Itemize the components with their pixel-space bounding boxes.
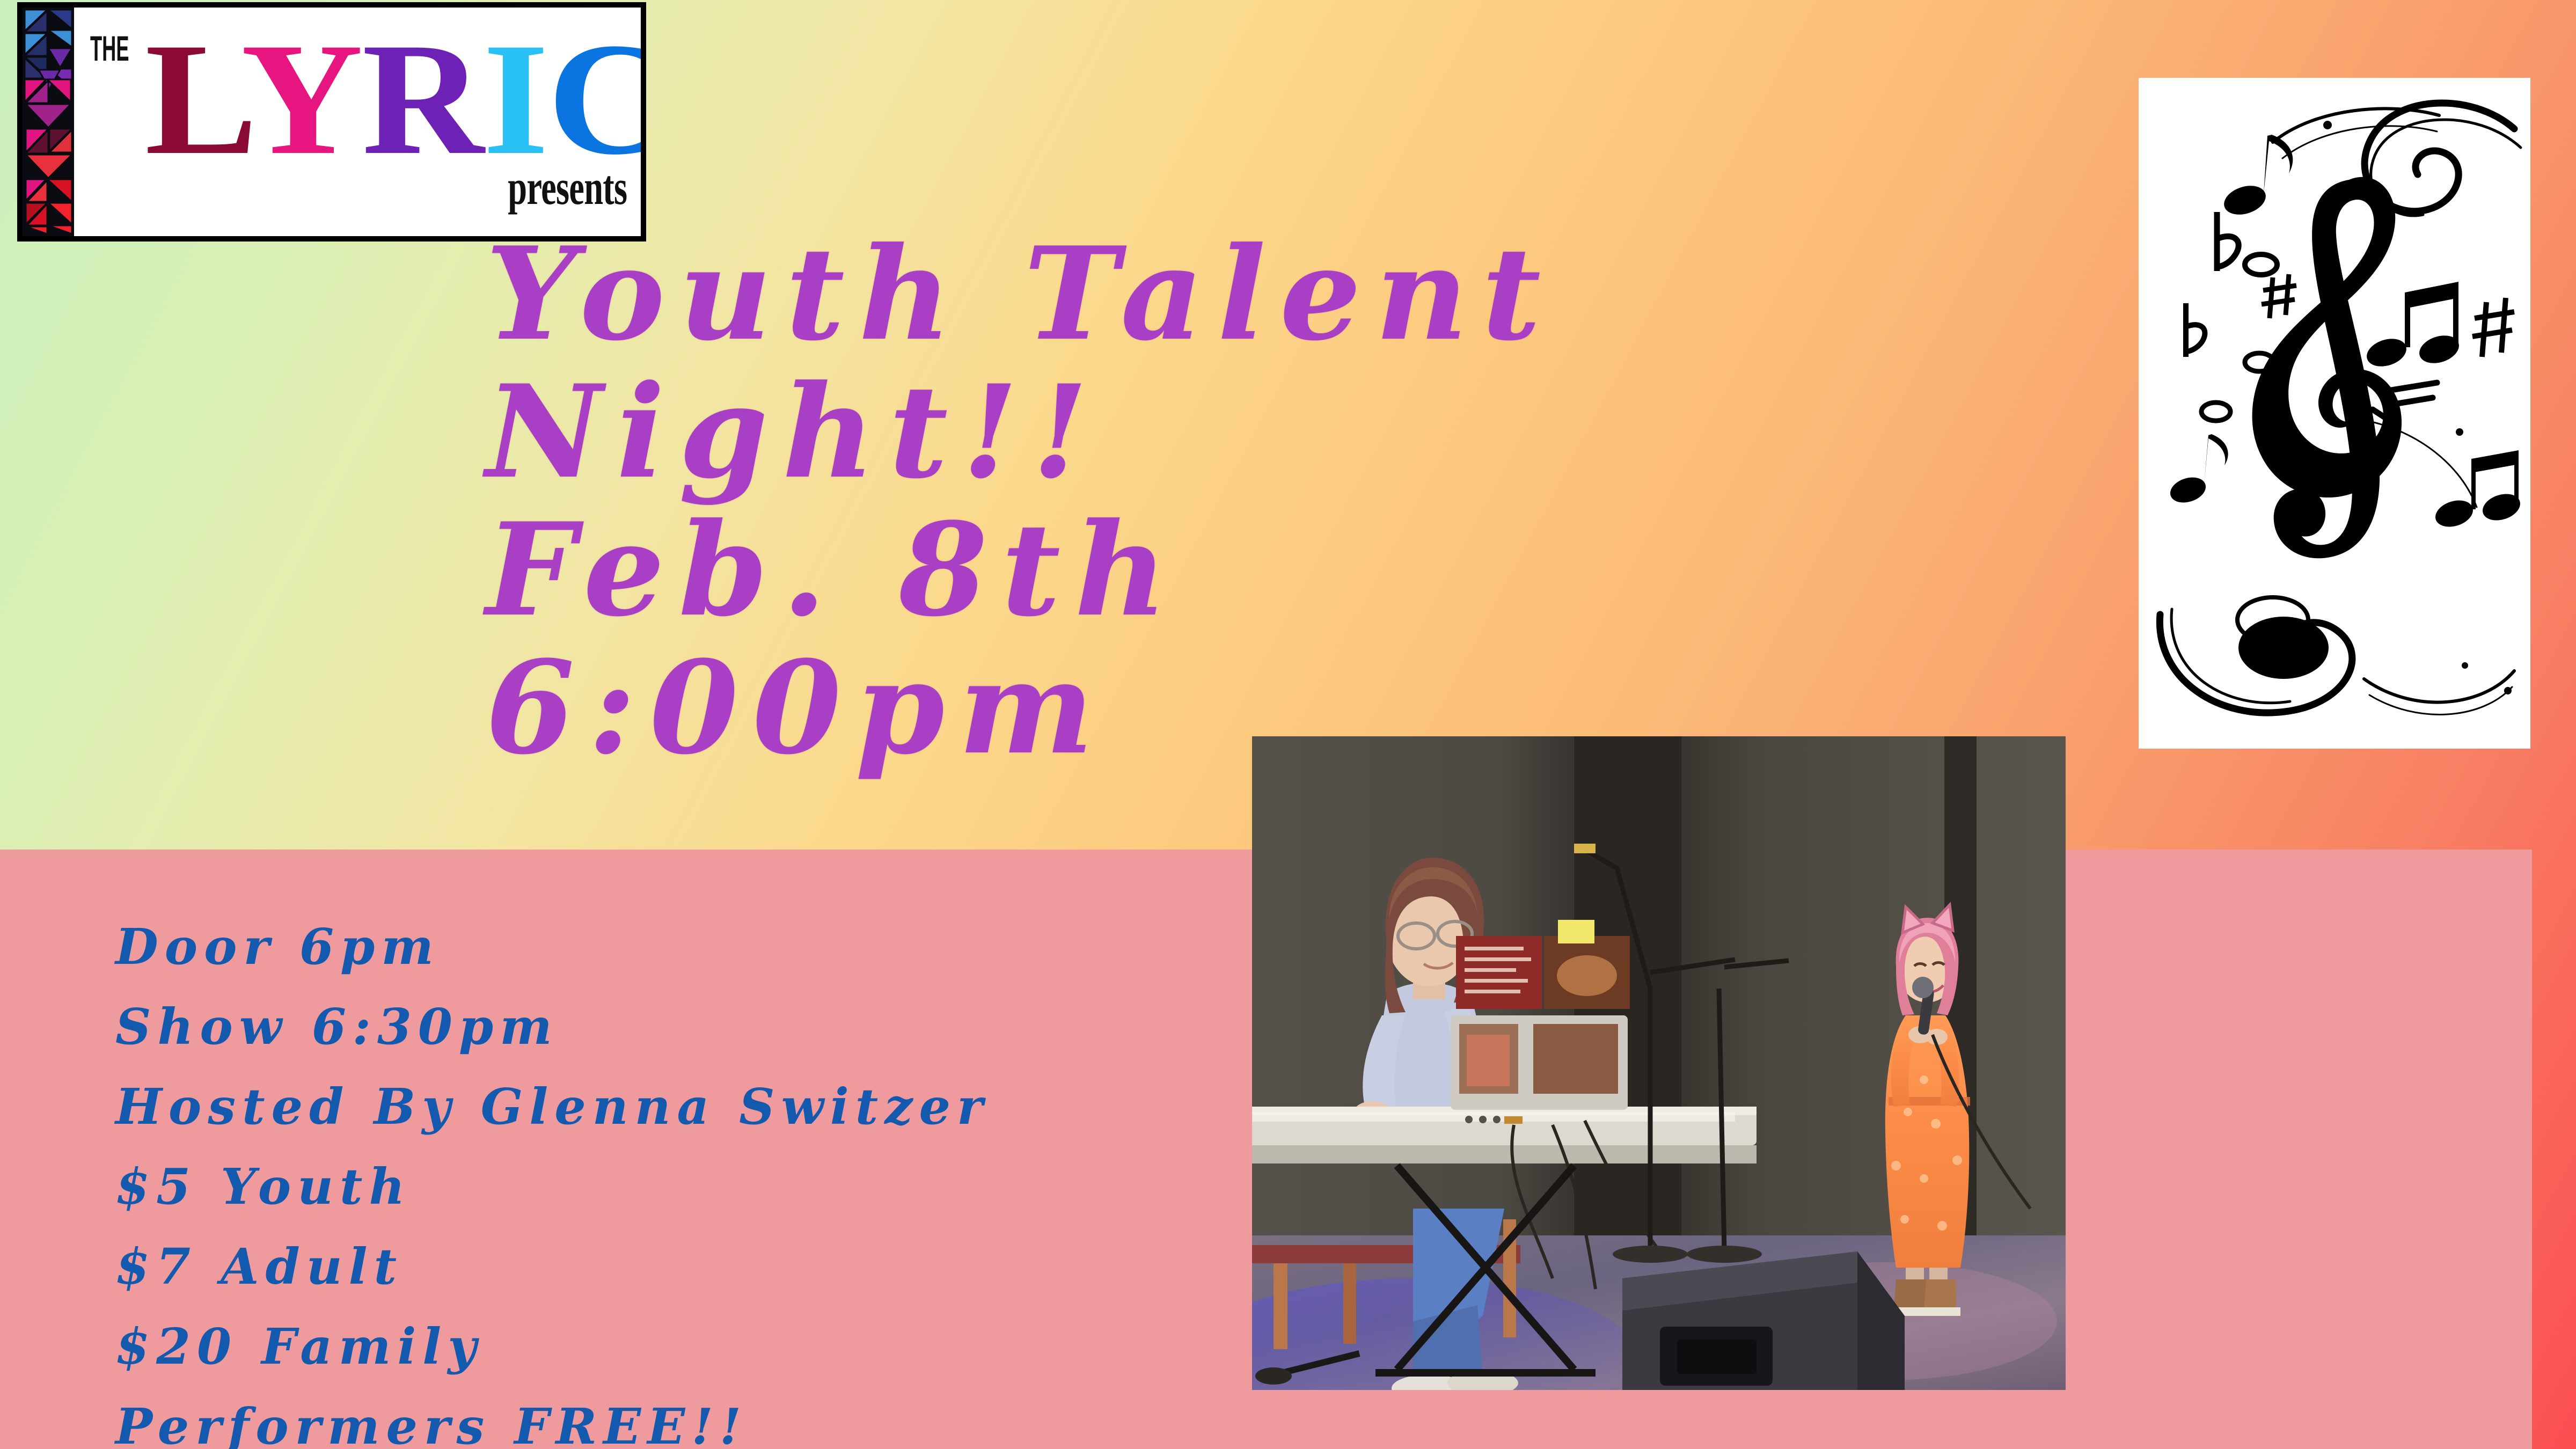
logo-letter-y: Y [241, 10, 362, 188]
treble-clef-icon [2139, 78, 2530, 749]
logo-letter-r: R [362, 10, 482, 188]
stage-photo [1252, 736, 2066, 1390]
event-details-list: Door 6pm Show 6:30pm Hosted By Glenna Sw… [115, 907, 1296, 1449]
logo-letter-l: L [145, 10, 241, 188]
logo-the-text: THE [90, 32, 129, 65]
stained-glass-strip [23, 8, 74, 236]
logo-presents-text: presents [508, 159, 627, 216]
stage-photo-illustration [1252, 736, 2066, 1390]
logo-lyric-wordmark: LYRIC [145, 18, 646, 179]
poster-canvas: THE LYRIC presents Youth Talent Night!! … [0, 0, 2576, 1449]
stained-glass-svg [23, 8, 74, 236]
page-title: Youth Talent Night!! Feb. 8th 6:00pm [486, 225, 1935, 777]
music-notes-artwork [2139, 78, 2530, 749]
lyric-logo: THE LYRIC presents [17, 2, 646, 241]
logo-white-field: THE LYRIC presents [74, 8, 641, 236]
